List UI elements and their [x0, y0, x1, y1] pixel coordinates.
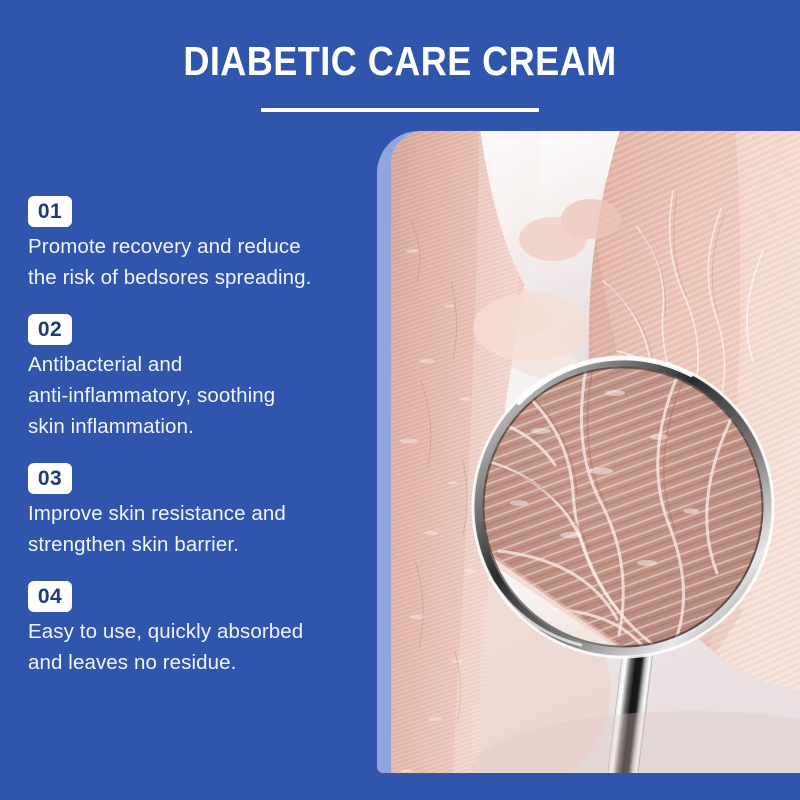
feature-line: the risk of bedsores spreading.: [28, 262, 368, 293]
feature-item-01: 01 Promote recovery and reduce the risk …: [28, 196, 368, 293]
product-photo: [391, 131, 800, 773]
feature-text-03: Improve skin resistance and strengthen s…: [28, 498, 368, 560]
title-block: DIABETIC CARE CREAM: [0, 38, 800, 112]
feature-line: anti-inflammatory, soothing: [28, 380, 368, 411]
title-underline-rule: [261, 108, 539, 112]
feature-text-04: Easy to use, quickly absorbed and leaves…: [28, 616, 368, 678]
feature-line: and leaves no residue.: [28, 647, 368, 678]
feature-line: Antibacterial and: [28, 349, 368, 380]
badge-number-03: 03: [28, 463, 72, 494]
feature-line: strengthen skin barrier.: [28, 529, 368, 560]
feature-item-02: 02 Antibacterial and anti-inflammatory, …: [28, 314, 368, 442]
poster-root: DIABETIC CARE CREAM 01 Promote recovery …: [0, 0, 800, 800]
badge-number-04: 04: [28, 581, 72, 612]
page-title: DIABETIC CARE CREAM: [48, 38, 752, 84]
product-photo-panel: [377, 131, 800, 773]
badge-number-02: 02: [28, 314, 72, 345]
feature-line: Improve skin resistance and: [28, 498, 368, 529]
feature-line: Promote recovery and reduce: [28, 231, 368, 262]
feature-text-02: Antibacterial and anti-inflammatory, soo…: [28, 349, 368, 442]
feature-text-01: Promote recovery and reduce the risk of …: [28, 231, 368, 293]
cracked-heel-photo-illustration: [391, 131, 800, 773]
feature-item-03: 03 Improve skin resistance and strengthe…: [28, 463, 368, 560]
feature-item-04: 04 Easy to use, quickly absorbed and lea…: [28, 581, 368, 678]
feature-line: skin inflammation.: [28, 411, 368, 442]
badge-number-01: 01: [28, 196, 72, 227]
feature-line: Easy to use, quickly absorbed: [28, 616, 368, 647]
feature-list: 01 Promote recovery and reduce the risk …: [28, 196, 368, 699]
